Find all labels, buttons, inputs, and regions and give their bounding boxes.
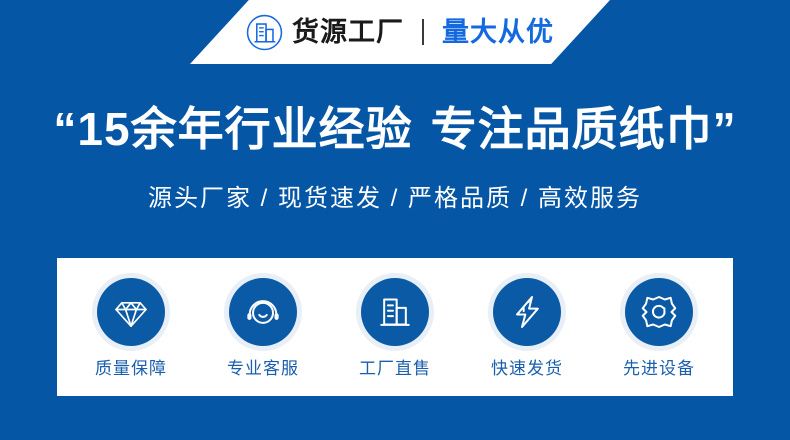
feature-item-equipment[interactable]: 先进设备 xyxy=(599,278,719,377)
feature-icon-circle xyxy=(361,278,429,346)
buildings-icon xyxy=(375,292,415,332)
headset-icon xyxy=(243,292,283,332)
headline-part-1: 15余年行业经验 xyxy=(77,103,412,155)
brand-divider xyxy=(422,19,424,45)
banner-content: 货源工厂 量大从优 xyxy=(190,0,610,64)
building-circle-icon xyxy=(246,14,283,51)
feature-label: 先进设备 xyxy=(623,360,695,377)
headline-close-quote: ” xyxy=(713,103,737,155)
feature-label: 工厂直售 xyxy=(359,360,431,377)
feature-icon-circle xyxy=(493,278,561,346)
brand-tagline: 量大从优 xyxy=(442,19,554,46)
feature-icon-circle xyxy=(97,278,165,346)
feature-label: 专业客服 xyxy=(227,360,299,377)
brand-name: 货源工厂 xyxy=(292,19,404,46)
feature-icon-circle xyxy=(625,278,693,346)
feature-label: 质量保障 xyxy=(95,360,167,377)
headline-part-2: 专注品质纸巾 xyxy=(431,103,713,155)
lightning-icon xyxy=(507,292,547,332)
top-banner: 货源工厂 量大从优 xyxy=(0,0,790,64)
feature-card: 质量保障 xyxy=(57,258,733,396)
feature-icon-circle xyxy=(229,278,297,346)
feature-item-quality[interactable]: 质量保障 xyxy=(71,278,191,377)
headline: “15余年行业经验专注品质纸巾” xyxy=(0,104,790,155)
gear-icon xyxy=(639,292,679,332)
headline-open-quote: “ xyxy=(53,103,77,155)
feature-label: 快速发货 xyxy=(491,360,563,377)
feature-item-factory-direct[interactable]: 工厂直售 xyxy=(335,278,455,377)
feature-item-fast-shipping[interactable]: 快速发货 xyxy=(467,278,587,377)
diamond-icon xyxy=(111,292,151,332)
feature-item-service[interactable]: 专业客服 xyxy=(203,278,323,377)
promo-banner-page: 货源工厂 量大从优 “15余年行业经验专注品质纸巾” 源头厂家 / 现货速发 /… xyxy=(0,0,790,440)
subtitle: 源头厂家 / 现货速发 / 严格品质 / 高效服务 xyxy=(0,185,790,214)
